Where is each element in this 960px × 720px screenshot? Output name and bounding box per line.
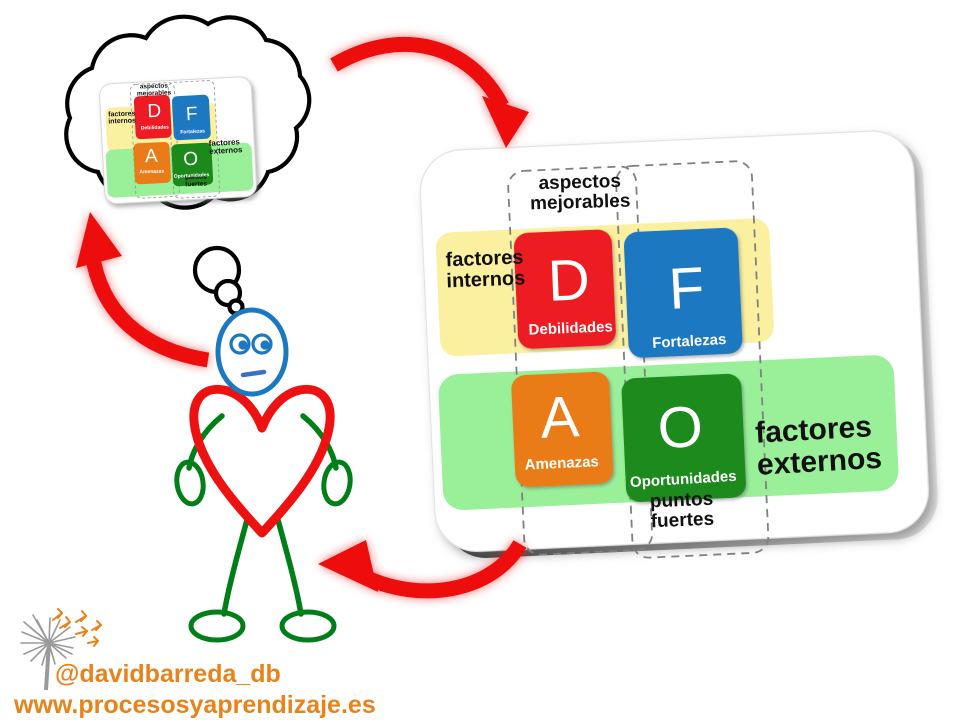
left-leg bbox=[224, 520, 247, 614]
watermark-handle[interactable]: @davidbarreda_db bbox=[55, 660, 281, 689]
heart-torso bbox=[194, 389, 330, 533]
quadrant-F-caption: Fortalezas bbox=[634, 331, 745, 352]
quadrant-A-caption: Amenazas bbox=[513, 454, 610, 473]
right-pupil bbox=[260, 340, 269, 349]
thumbnail-quadrant-A-caption: Amenazas bbox=[135, 169, 168, 175]
quadrant-O-letter: O bbox=[621, 396, 740, 461]
quadrant-O[interactable]: O Oportunidades bbox=[620, 378, 743, 505]
quadrant-F[interactable]: F Fortalezas bbox=[629, 233, 745, 361]
infographic-canvas: factores internos factores externos aspe… bbox=[0, 0, 960, 720]
arrow-bubble-to-panel bbox=[334, 44, 529, 148]
right-foot bbox=[282, 612, 334, 640]
thumbnail-quadrant-D: D Debilidades bbox=[137, 95, 171, 136]
thumbnail-quadrant-F-letter: F bbox=[174, 104, 209, 125]
watermark-url[interactable]: www.procesosyaprendizaje.es bbox=[14, 691, 376, 720]
quadrant-A-letter: A bbox=[510, 387, 609, 449]
thumbnail-quadrant-O-letter: O bbox=[171, 149, 210, 170]
left-pupil bbox=[238, 340, 247, 349]
column-aspectos-label: aspectos mejorables bbox=[523, 171, 636, 214]
quadrant-D-letter: D bbox=[520, 250, 618, 312]
quadrant-O-caption: Oportunidades bbox=[625, 469, 742, 491]
thumbnail-quadrant-A-letter: A bbox=[134, 146, 168, 166]
thumbnail-quadrant-D-caption: Debilidades bbox=[138, 125, 171, 131]
thumbnail-quadrant-A: A Amenazas bbox=[134, 142, 168, 181]
quadrant-F-letter: F bbox=[630, 257, 743, 321]
mouth bbox=[243, 372, 264, 375]
thumbnail-quadrant-O-caption: Oportunidades bbox=[172, 173, 210, 180]
arrow-person-to-bubble bbox=[76, 212, 208, 360]
thumbnail-quadrant-F-caption: Fortalezas bbox=[176, 129, 210, 136]
thumbnail-band-internal-label: factores internos bbox=[107, 110, 137, 126]
quadrant-D[interactable]: D Debilidades bbox=[519, 226, 619, 342]
quadrant-D-caption: Debilidades bbox=[522, 319, 619, 338]
band-external-label: factores externos bbox=[754, 408, 927, 480]
right-leg bbox=[278, 520, 301, 614]
thumbnail-band-external-label: factores externos bbox=[209, 138, 246, 157]
band-internal-label: factores internos bbox=[445, 248, 519, 293]
thumbnail-quadrant-O: O Oportunidades bbox=[171, 145, 211, 186]
thumbnail-quadrant-F: F Fortalezas bbox=[174, 98, 210, 140]
thumbnail-quadrant-D-letter: D bbox=[138, 101, 172, 121]
quadrant-A[interactable]: A Amenazas bbox=[510, 369, 611, 481]
head bbox=[218, 310, 286, 394]
left-foot bbox=[191, 612, 243, 640]
